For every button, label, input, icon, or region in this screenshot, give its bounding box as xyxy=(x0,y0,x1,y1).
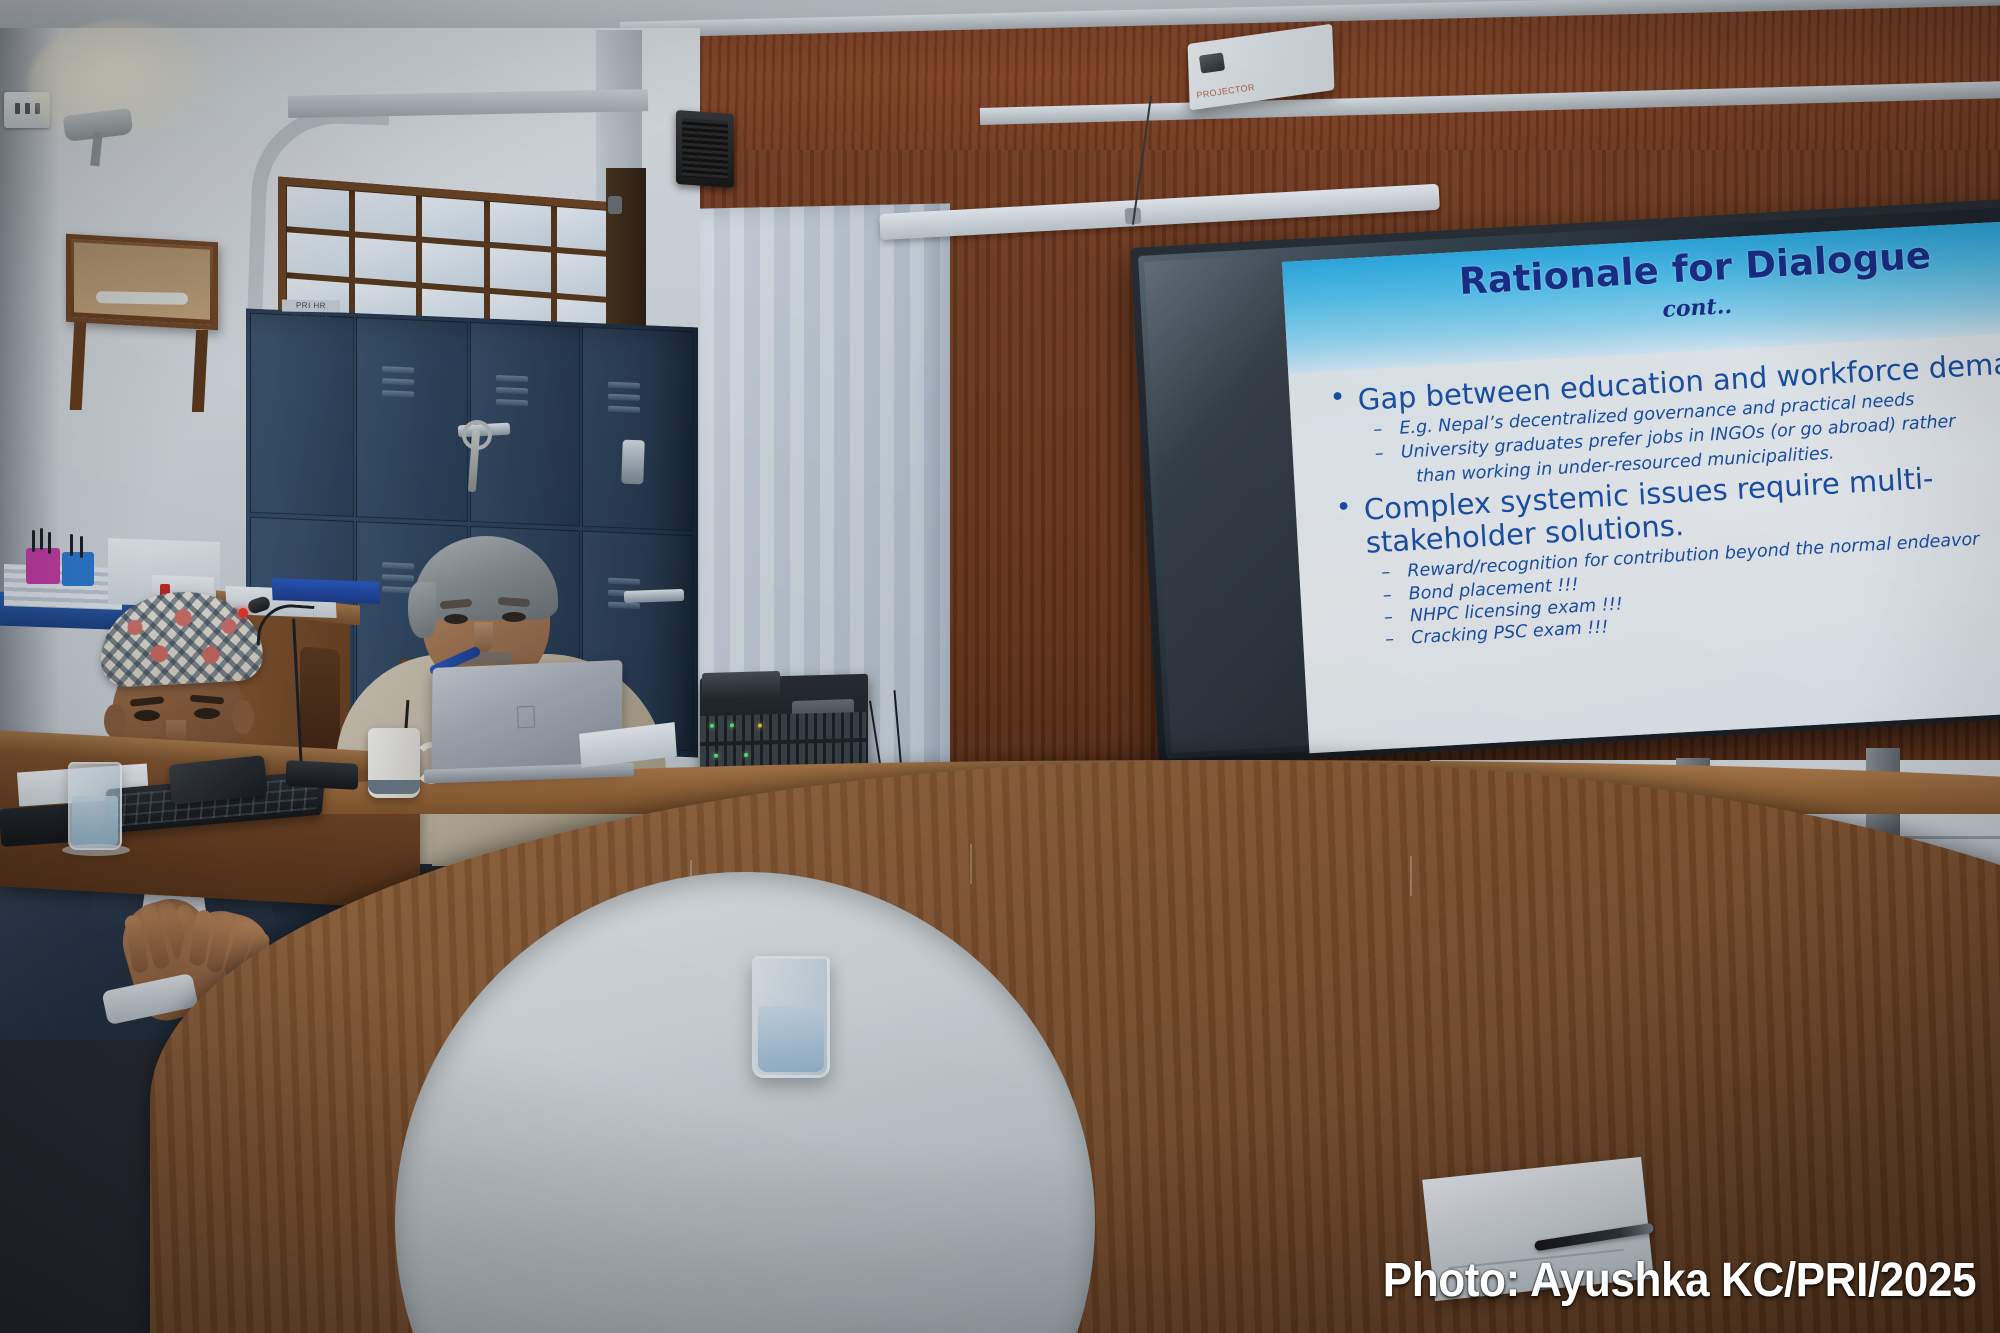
status-led xyxy=(710,724,714,728)
eye xyxy=(194,708,220,719)
pen xyxy=(70,534,73,556)
table-seam xyxy=(970,844,972,884)
window-pane xyxy=(490,248,552,293)
wall-fixture-knob xyxy=(608,196,622,214)
locker-vent xyxy=(496,399,528,406)
locker-vent xyxy=(382,390,414,397)
locker-vent xyxy=(496,387,528,394)
ear xyxy=(104,704,126,738)
hair-side xyxy=(408,582,436,638)
locker-vent xyxy=(608,406,640,413)
socket-hole xyxy=(25,103,30,114)
water-in-glass xyxy=(72,796,118,846)
locker-section-label: PRI HR SECTION xyxy=(282,299,340,312)
locker-door[interactable] xyxy=(582,327,694,532)
photo-credit: Photo: Ayushka KC/PRI/2025 xyxy=(160,1244,2000,1318)
ear xyxy=(232,700,254,734)
locker-vent xyxy=(382,366,414,373)
pen-holder-pink[interactable] xyxy=(26,548,60,584)
av-device-top[interactable] xyxy=(702,671,780,701)
pen xyxy=(80,536,83,558)
window-pane xyxy=(355,191,417,236)
locker-door[interactable] xyxy=(356,317,468,522)
locker-vent xyxy=(382,378,414,385)
window-pane xyxy=(287,232,349,277)
window-pane xyxy=(422,197,484,242)
microphone-base[interactable] xyxy=(286,760,358,790)
status-led xyxy=(730,723,734,727)
glass-coaster xyxy=(62,844,130,856)
window-pane xyxy=(287,186,349,231)
locker-vent xyxy=(608,382,640,389)
window-pane xyxy=(490,202,552,247)
wall-shelf-item xyxy=(96,291,188,305)
pen xyxy=(40,528,43,550)
table-seam xyxy=(1410,856,1412,896)
pen xyxy=(32,530,35,552)
locker-vent xyxy=(608,394,640,401)
eye xyxy=(444,614,468,624)
slide-bullet-list: Gap between education and workforce dema… xyxy=(1323,343,2000,655)
socket-hole xyxy=(15,103,20,114)
locker-vent xyxy=(496,375,528,382)
photograph-scene: PRI HR SECTION PROJECTOR Rationale for D… xyxy=(0,0,2000,1333)
wall-speaker-grille xyxy=(682,118,728,179)
status-led xyxy=(714,754,718,758)
pen-holder-blue[interactable] xyxy=(62,552,94,586)
eye xyxy=(502,612,526,622)
status-led xyxy=(758,724,762,728)
dhaka-topi-hat xyxy=(98,588,265,688)
eye xyxy=(134,710,160,721)
status-led xyxy=(744,753,748,757)
microphone-active-led xyxy=(238,608,248,618)
mug-band xyxy=(368,780,420,794)
window-pane xyxy=(422,243,484,288)
locker-handle[interactable] xyxy=(621,440,645,485)
locker-door[interactable] xyxy=(250,313,354,517)
pen xyxy=(48,532,51,554)
water-in-glass xyxy=(758,1006,824,1072)
presentation-slide[interactable]: Rationale for Dialogue cont.. Gap betwee… xyxy=(1282,216,2000,753)
wall-shelf-interior xyxy=(74,242,210,320)
display-inactive-band xyxy=(1144,254,1309,753)
laptop-brand-logo-icon:  xyxy=(511,699,540,734)
network-switch[interactable] xyxy=(700,712,866,742)
projector-lens-icon xyxy=(1199,52,1225,73)
window-pane xyxy=(355,237,417,282)
